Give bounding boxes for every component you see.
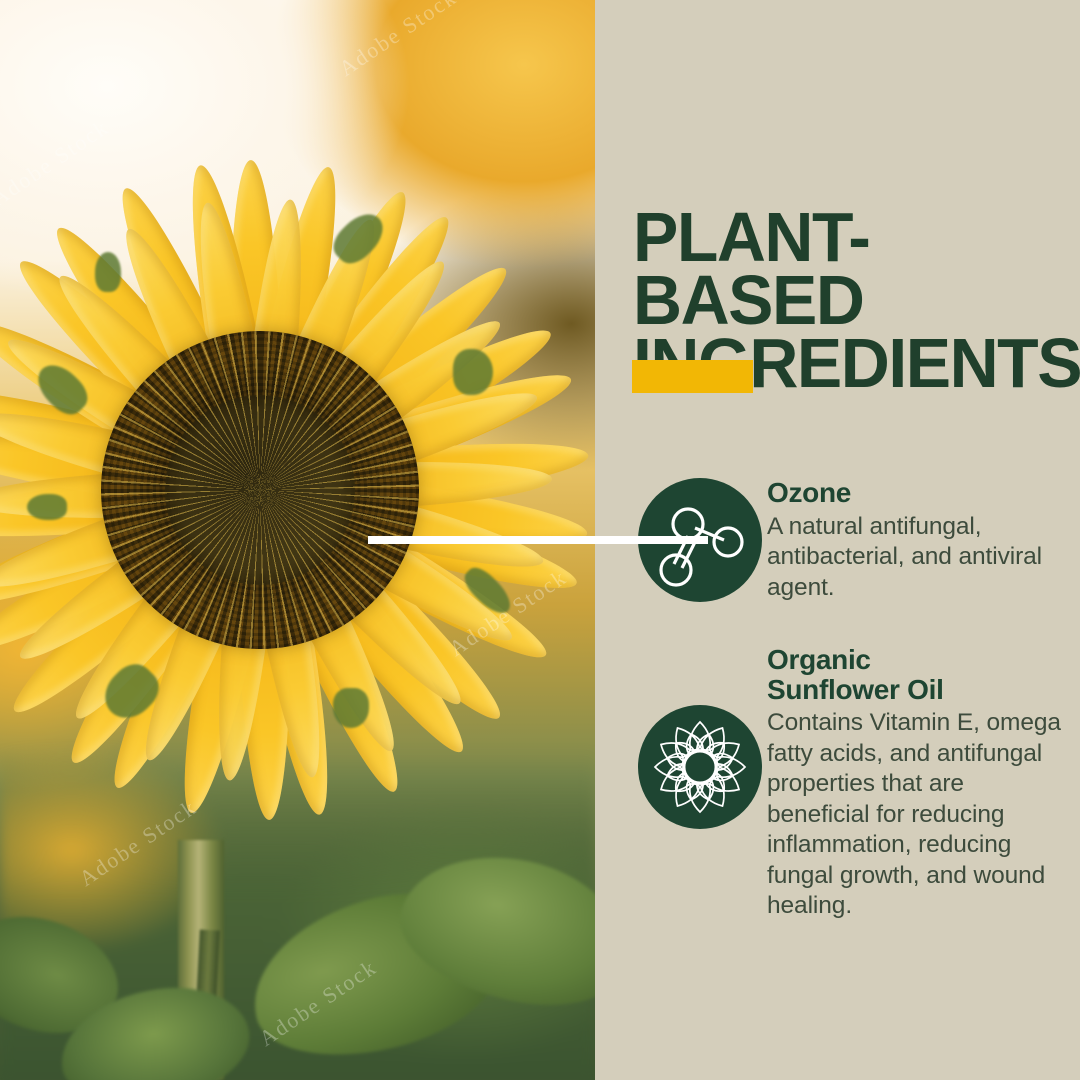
callout-connector-line — [368, 536, 708, 544]
ingredient-heading: Ozone — [767, 478, 1069, 508]
ingredient-description: Contains Vitamin E, omega fatty acids, a… — [767, 708, 1069, 922]
ingredient-description: A natural antifungal, antibacterial, and… — [767, 512, 1069, 604]
sunflower-oil-text-column: Organic Sunflower Oil Contains Vitamin E… — [767, 645, 1069, 922]
ingredient-heading: Organic Sunflower Oil — [767, 645, 1069, 704]
sunflower-head — [0, 70, 595, 910]
accent-bar — [632, 360, 753, 393]
ozone-text-column: Ozone A natural antifungal, antibacteria… — [767, 478, 1069, 603]
sunflower-sepals — [0, 70, 595, 910]
infographic-canvas: Adobe Stock Adobe Stock Adobe Stock Adob… — [0, 0, 1080, 1080]
sunflower-icon — [638, 705, 762, 829]
